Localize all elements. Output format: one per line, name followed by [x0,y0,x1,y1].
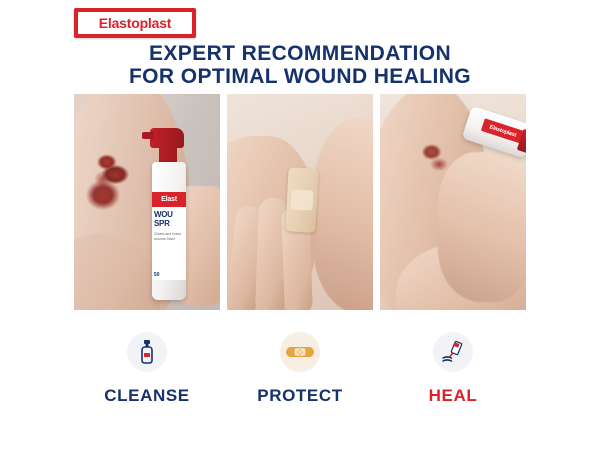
photo-protect-hand-right [313,118,373,310]
panel-heal: Elastoplast [380,94,526,426]
photo-protect [227,94,373,310]
caption-cleanse: CLEANSE [74,310,220,426]
brand-logo: Elastoplast [74,8,196,38]
icon-heal-wrap [380,332,526,372]
headline-line-2: FOR OPTIMAL WOUND HEALING [0,65,600,88]
spray-label-volume: 50 [154,272,160,278]
spray-label-fine-print: Cleans and rinses wounds Disinf [154,232,184,241]
spray-label-product-name-2: SPR [154,219,184,228]
panel-protect: PROTECT [227,94,373,426]
panel-row: Elast WOU SPR Cleans and rinses wounds D… [74,94,526,426]
plaster-icon [280,332,320,372]
caption-label-cleanse: CLEANSE [74,386,220,406]
spray-label-brand: Elast [152,192,186,207]
tube-body: Elastoplast [462,106,526,159]
spray-nozzle [142,132,154,139]
spray-label-brand-text: Elast [161,196,177,203]
headline: EXPERT RECOMMENDATION FOR OPTIMAL WOUND … [0,42,600,88]
spray-label-product-name-1: WOU [154,210,184,219]
icon-cleanse-wrap [74,332,220,372]
photo-heal: Elastoplast [380,94,526,310]
photo-cleanse: Elast WOU SPR Cleans and rinses wounds D… [74,94,220,310]
caption-label-heal: HEAL [380,386,526,406]
spray-label-product-name: WOU SPR [154,210,184,228]
photo-protect-plaster [285,167,318,232]
icon-protect-wrap [227,332,373,372]
tube-brand-logo-text: Elastoplast [489,124,517,138]
spray-bottle: Elast WOU SPR Cleans and rinses wounds D… [152,162,186,300]
caption-heal: HEAL [380,310,526,426]
spray-label: Elast WOU SPR Cleans and rinses wounds D… [152,192,186,280]
spray-bottle-icon [127,332,167,372]
panel-cleanse: Elast WOU SPR Cleans and rinses wounds D… [74,94,220,426]
tube-brand-logo: Elastoplast [481,118,525,143]
poster: Elastoplast EXPERT RECOMMENDATION FOR OP… [0,0,600,450]
photo-cleanse-wound-secondary [86,180,120,210]
brand-logo-box: Elastoplast [74,8,196,38]
brand-logo-inner: Elastoplast [78,12,192,34]
wound-healing-ointment-icon [433,332,473,372]
photo-cleanse-spray-product: Elast WOU SPR Cleans and rinses wounds D… [146,110,198,300]
caption-label-protect: PROTECT [227,386,373,406]
headline-line-1: EXPERT RECOMMENDATION [149,42,451,65]
brand-logo-text: Elastoplast [99,15,172,31]
caption-protect: PROTECT [227,310,373,426]
